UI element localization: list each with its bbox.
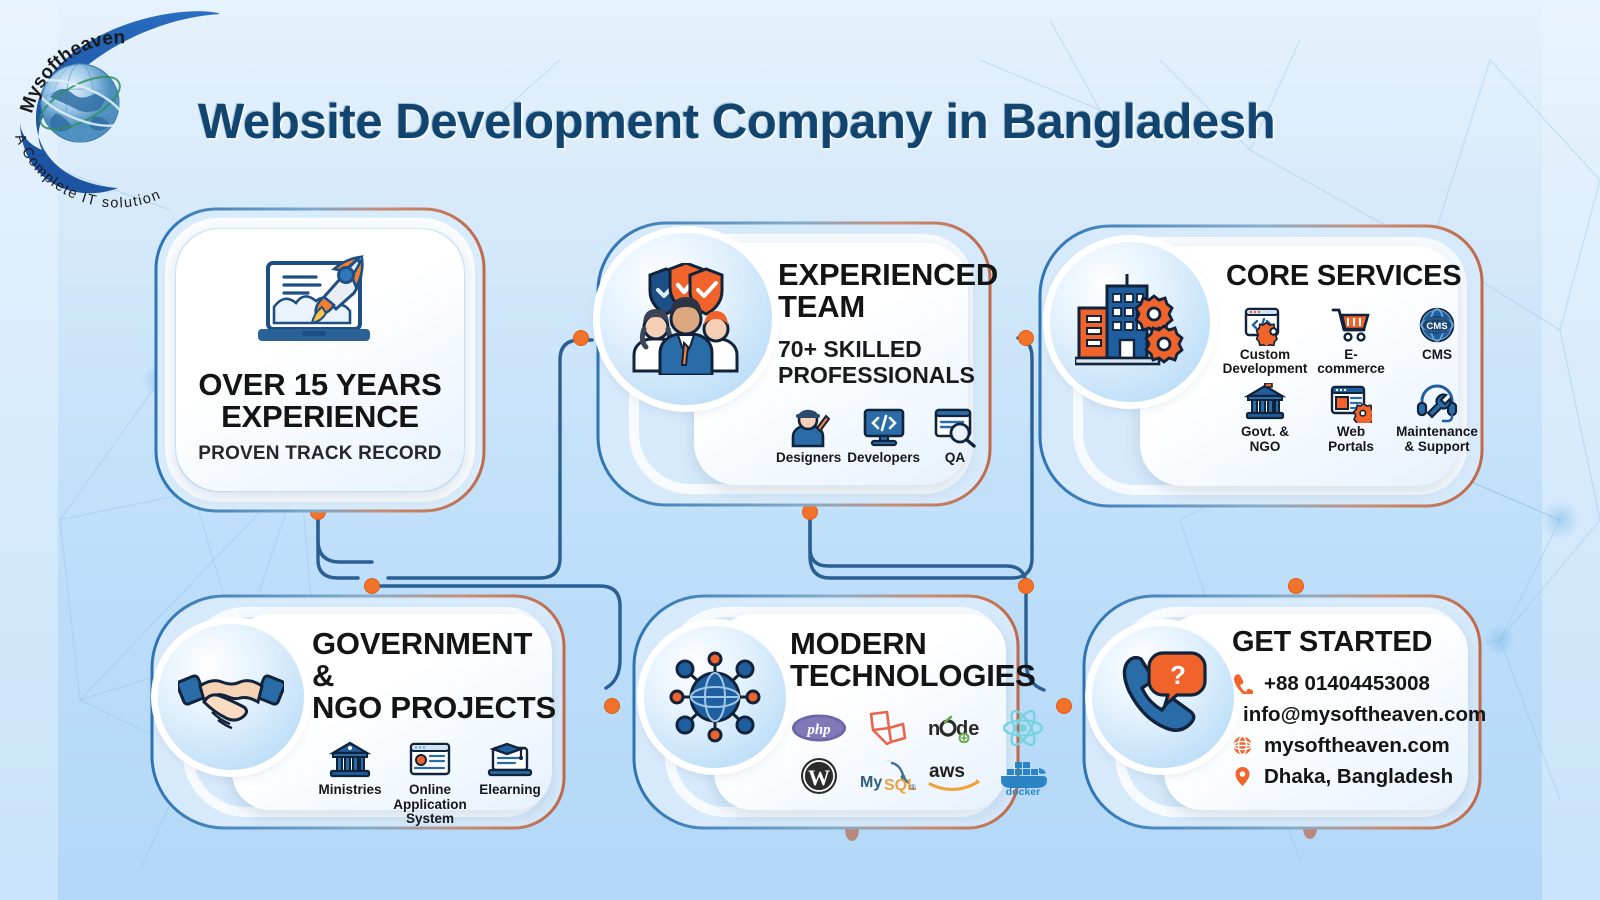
service-label: Custom Development xyxy=(1223,348,1308,377)
mysql-logo: My SQL ® xyxy=(858,757,916,795)
react-logo xyxy=(1001,708,1045,748)
contact-value: info@mysoftheaven.com xyxy=(1243,703,1486,727)
card-government-ngo[interactable]: GOVERNMENT & NGO PROJECTS Min xyxy=(140,592,572,832)
network-globe-icon xyxy=(663,647,767,747)
team-shields-icon-badge xyxy=(600,233,772,405)
role-label: Designers xyxy=(776,451,841,466)
services-grid: Custom Development E-commerce xyxy=(1226,306,1470,454)
tech-laravel xyxy=(858,706,916,750)
tech-mysql: My SQL ® xyxy=(858,754,916,798)
card-title: GOVERNMENT & NGO PROJECTS xyxy=(312,628,558,724)
svg-text:W: W xyxy=(808,765,830,790)
team-shields-icon xyxy=(626,263,746,375)
contact-value: Dhaka, Bangladesh xyxy=(1264,765,1453,789)
item-label: Ministries xyxy=(318,783,381,798)
cms-globe-icon: CMS xyxy=(1416,306,1458,346)
connector-dot xyxy=(1019,331,1034,346)
card-team[interactable]: EXPERIENCED TEAM 70+ SKILLED PROFESSIONA… xyxy=(594,219,994,509)
role-label: Developers xyxy=(847,451,920,466)
wordpress-logo: W xyxy=(797,755,841,797)
card-experience[interactable]: OVER 15 YEARS EXPERIENCE PROVEN TRACK RE… xyxy=(152,205,488,515)
government-items: Ministries Online xyxy=(312,740,558,828)
svg-text:n: n xyxy=(928,718,940,740)
svg-text:®: ® xyxy=(910,783,916,792)
building-gears-icon xyxy=(1075,272,1185,372)
role-label: QA xyxy=(945,451,965,466)
service-label: Maintenance & Support xyxy=(1396,425,1478,454)
handshake-icon-badge xyxy=(158,624,304,770)
svg-text:?: ? xyxy=(1170,660,1186,690)
item-online-application-system: Online Application System xyxy=(392,740,468,828)
item-ministries: Ministries xyxy=(312,740,388,828)
infographic-canvas: Mysoftheaven A Complete IT solution Webs… xyxy=(0,0,1600,900)
online-application-icon xyxy=(407,740,453,780)
service-label: CMS xyxy=(1422,348,1452,363)
nodejs-logo: n de xyxy=(926,713,984,743)
code-window-gear-icon xyxy=(1244,306,1286,346)
contact-value: mysoftheaven.com xyxy=(1264,734,1450,758)
card-title-line2: TEAM xyxy=(778,289,865,324)
service-govt-ngo: Govt. & NGO xyxy=(1226,383,1304,454)
qa-magnifier-icon xyxy=(933,406,977,448)
tech-php: php xyxy=(790,706,848,750)
tech-react xyxy=(994,706,1052,750)
designer-icon xyxy=(787,406,831,448)
service-ecommerce: E-commerce xyxy=(1312,306,1390,377)
location-pin-icon xyxy=(1232,766,1253,787)
web-portal-gear-icon xyxy=(1330,383,1372,423)
svg-text:My: My xyxy=(860,774,882,791)
phone-icon xyxy=(1232,673,1253,694)
phone-question-icon: ? xyxy=(1111,649,1215,745)
connector-dot xyxy=(605,699,620,714)
headset-wrench-icon xyxy=(1416,383,1458,423)
role-developers: Developers xyxy=(847,406,920,466)
tech-node: n de xyxy=(926,706,984,750)
service-label: Web Portals xyxy=(1328,425,1374,454)
card-title: CORE SERVICES xyxy=(1226,262,1470,292)
contact-phone[interactable]: +88 01404453008 xyxy=(1232,672,1484,696)
item-label: Online Application System xyxy=(393,783,467,828)
contact-value: +88 01404453008 xyxy=(1264,672,1430,696)
tech-wordpress: W xyxy=(790,754,848,798)
laravel-logo xyxy=(865,708,909,748)
card-modern-technologies[interactable]: MODERN TECHNOLOGIES php xyxy=(624,592,1024,832)
contact-website[interactable]: mysoftheaven.com xyxy=(1232,734,1484,758)
card-title-line2: TECHNOLOGIES xyxy=(790,658,1036,693)
rocket-laptop-icon xyxy=(254,255,386,359)
team-roles: Designers Developers xyxy=(776,406,984,466)
elearning-graduation-icon xyxy=(487,740,533,780)
service-label: Govt. & NGO xyxy=(1241,425,1289,454)
card-title-line2: EXPERIENCE xyxy=(221,399,419,434)
card-title: MODERN TECHNOLOGIES xyxy=(790,628,1012,692)
ministry-bank-icon xyxy=(327,740,373,780)
network-globe-icon-badge xyxy=(644,626,786,768)
contact-email[interactable]: info@mysoftheaven.com xyxy=(1232,703,1484,727)
card-title-line1: EXPERIENCED xyxy=(778,257,998,292)
tech-docker: docker xyxy=(994,754,1052,798)
tech-aws: aws xyxy=(926,754,984,798)
aws-logo: aws xyxy=(926,757,984,795)
card-body: OVER 15 YEARS EXPERIENCE PROVEN TRACK RE… xyxy=(176,229,464,491)
service-custom-development: Custom Development xyxy=(1226,306,1304,377)
card-title-line1: OVER 15 YEARS xyxy=(198,367,441,402)
php-logo: php xyxy=(791,713,847,743)
card-title: GET STARTED xyxy=(1232,628,1484,658)
tech-stack: php n xyxy=(790,706,1012,798)
service-cms: CMS CMS xyxy=(1398,306,1476,377)
government-bank-icon xyxy=(1244,383,1286,423)
service-web-portals: Web Portals xyxy=(1312,383,1390,454)
role-designers: Designers xyxy=(776,406,841,466)
handshake-icon xyxy=(178,658,284,736)
service-maintenance-support: Maintenance & Support xyxy=(1398,383,1476,454)
svg-text:aws: aws xyxy=(929,761,965,782)
connector-dot xyxy=(574,331,589,346)
svg-text:CMS: CMS xyxy=(1426,321,1448,332)
globe-icon xyxy=(1232,735,1253,756)
card-title-line1: MODERN xyxy=(790,626,927,661)
svg-text:php: php xyxy=(805,722,831,738)
svg-text:docker: docker xyxy=(1006,786,1040,796)
card-get-started[interactable]: ? GET STARTED +88 01404453008 info@mys xyxy=(1074,592,1486,832)
card-title-line2: NGO PROJECTS xyxy=(312,690,556,725)
card-subtitle: PROVEN TRACK RECORD xyxy=(198,443,441,465)
item-label: Elearning xyxy=(479,783,541,798)
building-gears-icon-badge xyxy=(1050,242,1210,402)
shopping-cart-icon xyxy=(1330,306,1372,346)
role-qa: QA xyxy=(926,406,984,466)
phone-question-icon-badge: ? xyxy=(1092,626,1234,768)
connector-dot xyxy=(1057,699,1072,714)
service-label: E-commerce xyxy=(1312,348,1390,377)
card-title: EXPERIENCED TEAM xyxy=(778,259,984,323)
item-elearning: Elearning xyxy=(472,740,548,828)
card-core-services[interactable]: CORE SERVICES Custom xyxy=(1036,222,1486,510)
contact-list: +88 01404453008 info@mysoftheaven.com xyxy=(1232,672,1484,789)
developer-monitor-icon xyxy=(862,406,906,448)
docker-logo: docker xyxy=(995,756,1051,796)
card-title-line1: GOVERNMENT & xyxy=(312,626,532,693)
contact-location[interactable]: Dhaka, Bangladesh xyxy=(1232,765,1484,789)
card-subtitle: 70+ SKILLED PROFESSIONALS xyxy=(778,337,984,389)
